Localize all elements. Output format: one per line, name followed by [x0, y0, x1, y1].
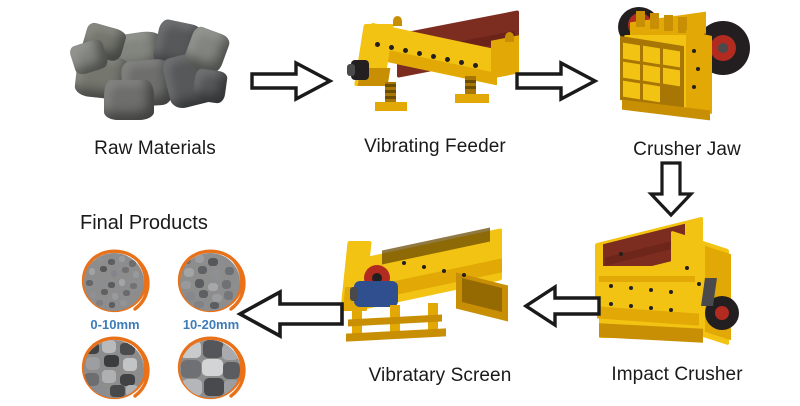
label-raw-materials: Raw Materials	[65, 138, 245, 160]
product-sample-image	[180, 340, 240, 398]
stage-final-products: Final Products	[75, 212, 255, 397]
arrow-feeder-to-jaw-icon	[513, 58, 599, 104]
heading-final-products: Final Products	[80, 212, 208, 235]
product-circle-20-30mm: 20-30mm	[77, 334, 151, 406]
product-sample-image	[180, 253, 240, 311]
product-circle-10-20mm: 10-20mm	[173, 247, 247, 321]
product-circle-30-40mm: 30-40mm	[173, 334, 247, 406]
stage-impact-crusher: Impact Crusher	[585, 222, 765, 352]
stage-raw-materials: Raw Materials	[70, 8, 240, 128]
stage-vibratary-screen: Vibratary Screen	[330, 225, 520, 355]
stage-crusher-jaw: Crusher Jaw	[600, 5, 760, 130]
feeder-base-right	[455, 94, 489, 103]
feeder-base-left	[375, 102, 407, 111]
label-vibrating-feeder: Vibrating Feeder	[340, 136, 530, 158]
product-label-10-20mm: 10-20mm	[169, 317, 253, 332]
process-flow-diagram: Raw Materials	[0, 0, 800, 406]
label-impact-crusher: Impact Crusher	[582, 364, 772, 386]
arrow-raw-to-feeder-icon	[248, 58, 334, 104]
arrow-jaw-to-impact-icon	[640, 160, 702, 218]
product-sample-image	[84, 253, 144, 311]
label-crusher-jaw: Crusher Jaw	[592, 139, 782, 161]
rock-pile-image	[70, 8, 240, 128]
label-vibratary-screen: Vibratary Screen	[345, 365, 535, 387]
product-label-0-10mm: 0-10mm	[73, 317, 157, 332]
stage-vibrating-feeder: Vibrating Feeder	[345, 12, 525, 127]
product-circle-0-10mm: 0-10mm	[77, 247, 151, 321]
product-sample-image	[84, 340, 144, 398]
screen-motor	[354, 281, 398, 307]
arrow-impact-to-screen-icon	[523, 283, 603, 329]
